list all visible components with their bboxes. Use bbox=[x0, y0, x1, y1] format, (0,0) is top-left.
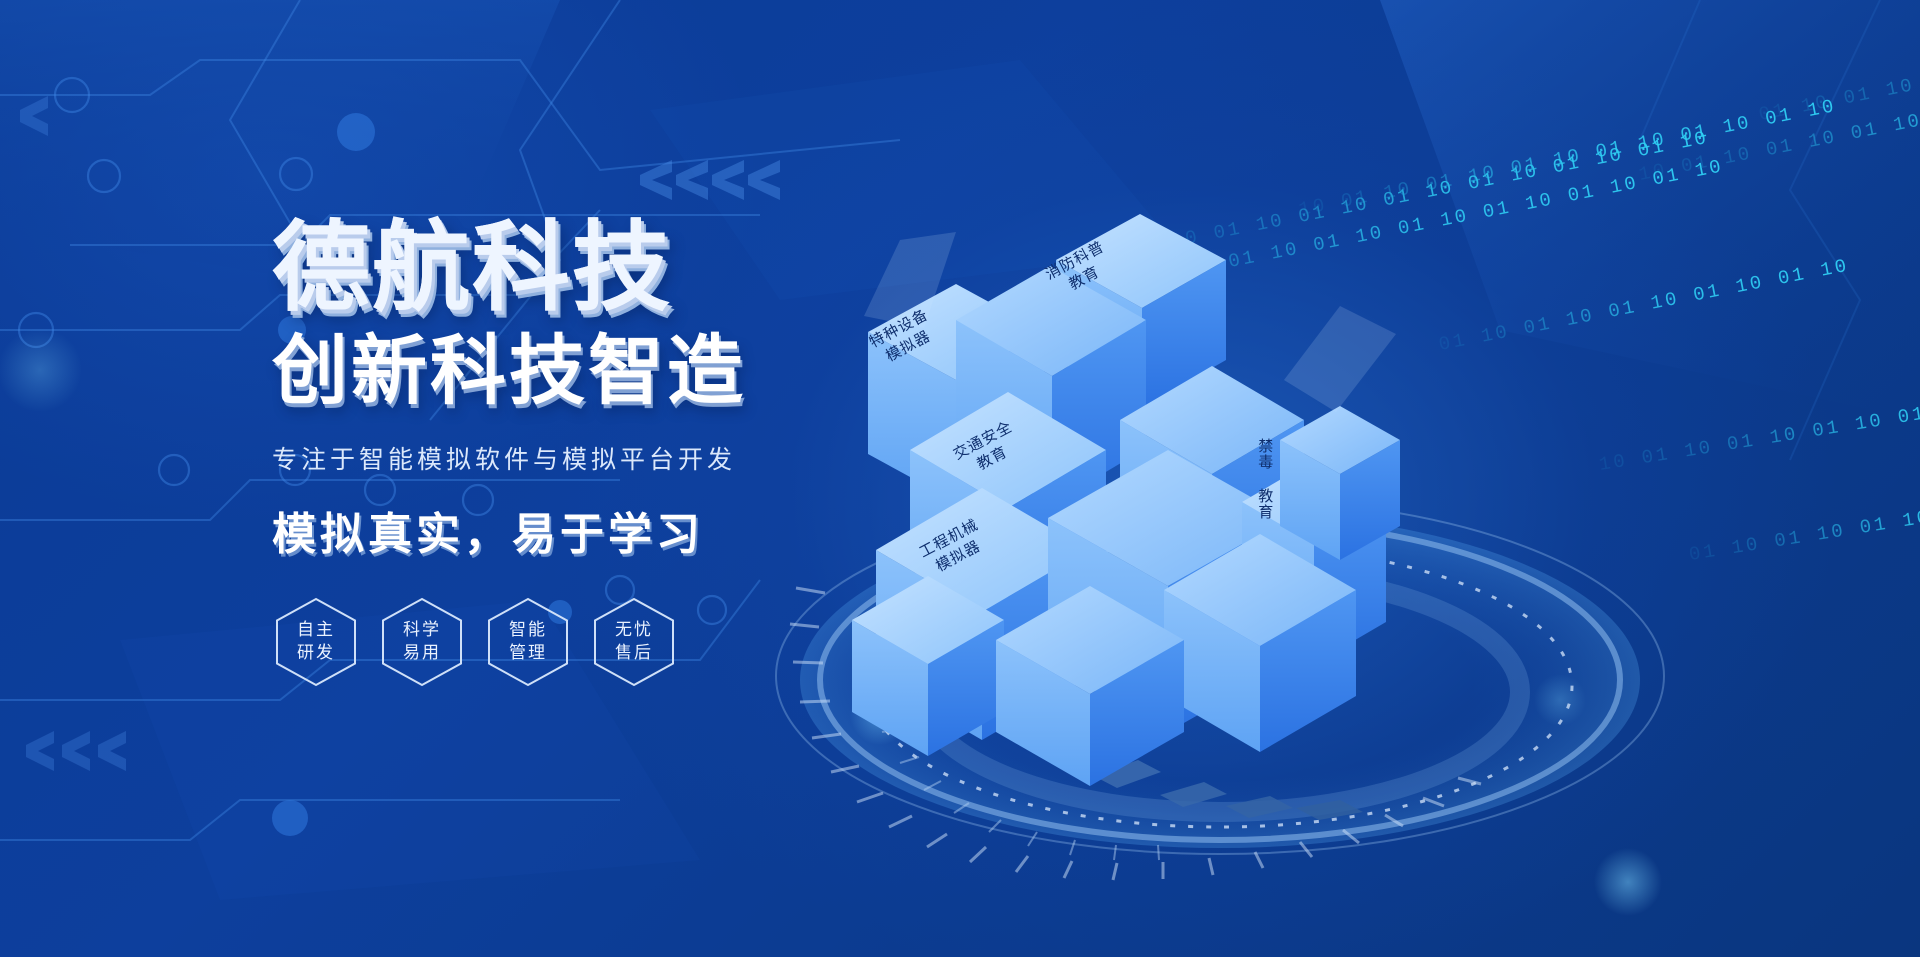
badge-line-2: 售后 bbox=[615, 642, 653, 665]
brand-title: 德航科技 bbox=[272, 218, 672, 316]
feature-badge-worry-free-after-sales[interactable]: 无忧 售后 bbox=[590, 596, 678, 688]
isometric-cube-illustration: 消防科普 教育 特种设备 模拟器 交通安全 教育 工程机械 模拟器 禁毒 教育 bbox=[760, 120, 1920, 957]
feature-badge-label: 智能 管理 bbox=[509, 619, 547, 665]
badge-line-2: 管理 bbox=[509, 642, 547, 665]
cube-stack-graphic bbox=[760, 120, 1920, 957]
feature-badge-smart-management[interactable]: 智能 管理 bbox=[484, 596, 572, 688]
feature-badge-self-development[interactable]: 自主 研发 bbox=[272, 596, 360, 688]
binary-row: 01 10 01 10 01 10 01 10 01 10 01 10 01 1… bbox=[1757, 0, 1920, 126]
hero-banner: 01 10 01 10 01 10 01 10 01 10 01 10 01 1… bbox=[0, 0, 1920, 957]
feature-badge-label: 无忧 售后 bbox=[615, 619, 653, 665]
feature-badge-label: 自主 研发 bbox=[297, 619, 335, 665]
badge-line-1: 无忧 bbox=[615, 619, 653, 642]
badge-line-1: 自主 bbox=[297, 619, 335, 642]
badge-line-1: 智能 bbox=[509, 619, 547, 642]
feature-badge-scientific-easy-to-use[interactable]: 科学 易用 bbox=[378, 596, 466, 688]
feature-badge-label: 科学 易用 bbox=[403, 619, 441, 665]
badge-line-2: 易用 bbox=[403, 642, 441, 665]
badge-line-1: 科学 bbox=[403, 619, 441, 642]
badge-line-2: 研发 bbox=[297, 642, 335, 665]
